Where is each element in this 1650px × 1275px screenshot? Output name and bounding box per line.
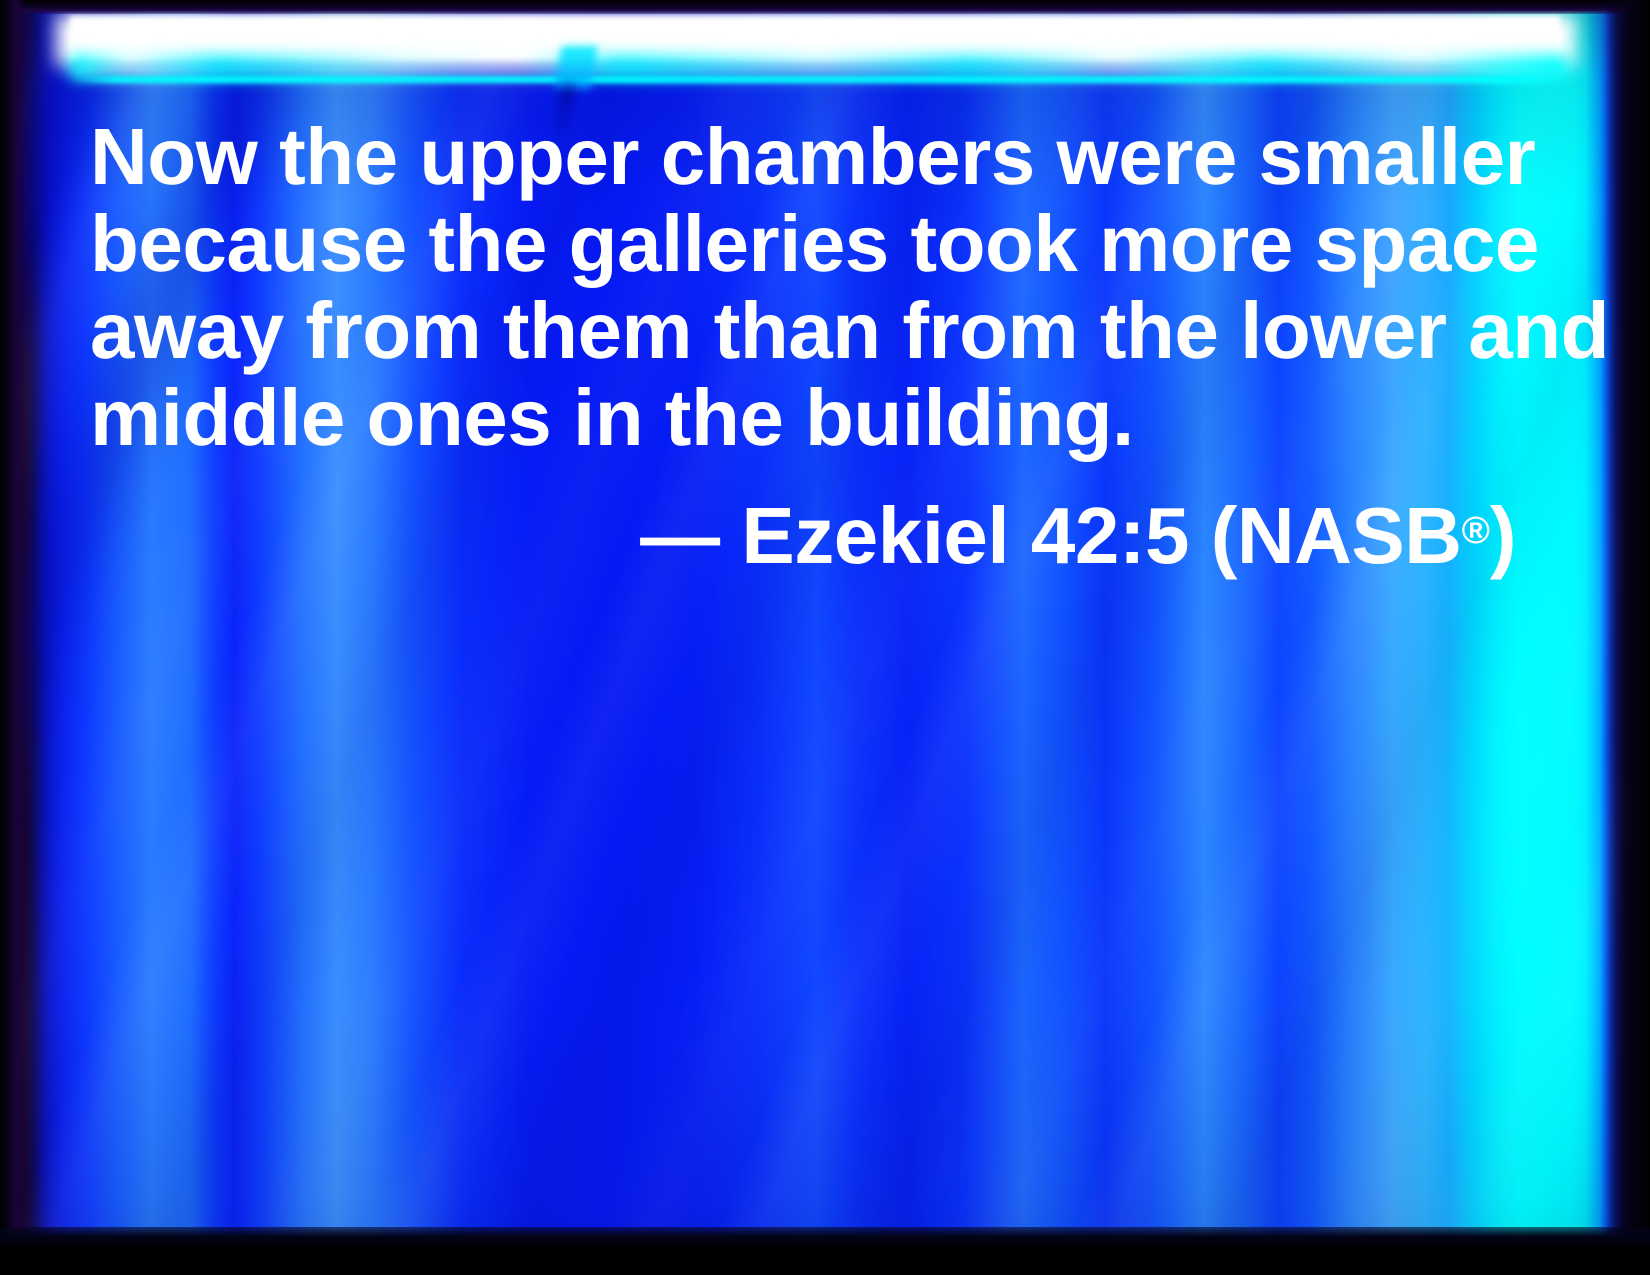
registered-trademark-icon: ®	[1462, 509, 1490, 552]
scripture-slide: Now the upper chambers were smaller beca…	[0, 0, 1650, 1275]
verse-line-1: Now the upper chambers were smaller	[90, 113, 1530, 200]
attribution-em-dash: —	[640, 491, 720, 580]
verse-line-4: middle ones in the building.	[90, 374, 1530, 461]
attribution-reference: 42:5	[1031, 491, 1189, 580]
verse-text-block: Now the upper chambers were smaller beca…	[90, 113, 1530, 579]
attribution-translation-open: (NASB	[1211, 491, 1462, 580]
attribution-spacer-1	[720, 491, 742, 580]
verse-attribution: — Ezekiel 42:5 (NASB®)	[90, 487, 1530, 579]
attribution-spacer-2	[1009, 491, 1031, 580]
verse-line-3: away from them than from the lower and	[90, 287, 1530, 374]
verse-line-2: because the galleries took more space	[90, 200, 1530, 287]
attribution-spacer-3	[1189, 491, 1211, 580]
attribution-book: Ezekiel	[741, 491, 1009, 580]
attribution-translation-close: )	[1490, 491, 1516, 580]
